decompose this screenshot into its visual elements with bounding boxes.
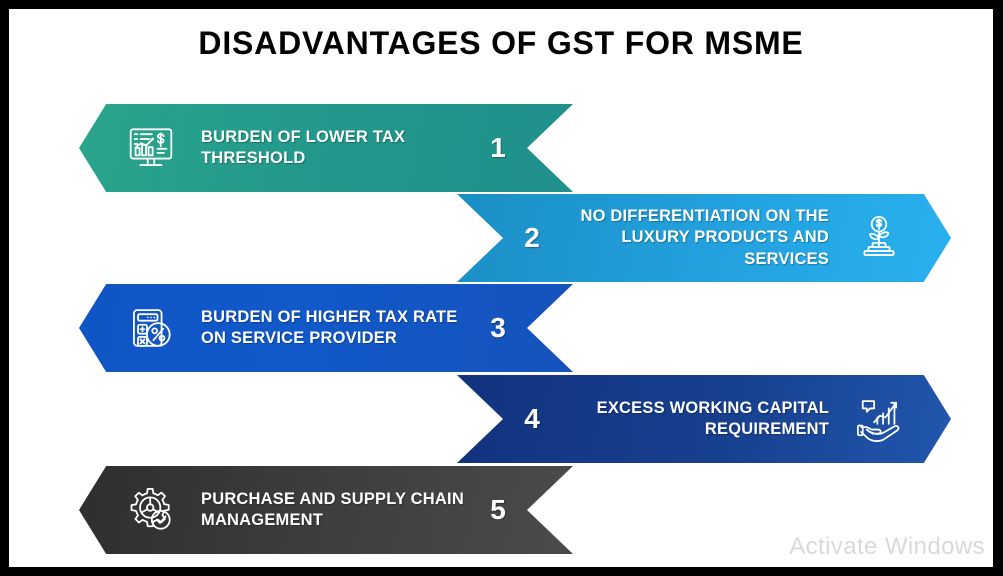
list-item[interactable]: PURCHASE AND SUPPLY CHAIN MANAGEMENT 5 bbox=[79, 466, 573, 554]
list-item[interactable]: 4 EXCESS WORKING CAPITAL REQUIREMENT bbox=[457, 375, 951, 463]
windows-activation-watermark: Activate Windows bbox=[789, 533, 985, 561]
list-item[interactable]: BURDEN OF LOWER TAX THRESHOLD 1 bbox=[79, 104, 573, 192]
list-item[interactable]: BURDEN OF HIGHER TAX RATE ON SERVICE PRO… bbox=[79, 284, 573, 372]
list-item-label: NO DIFFERENTIATION ON THE LUXURY PRODUCT… bbox=[555, 206, 851, 269]
list-item-number: 4 bbox=[509, 403, 555, 435]
list-item-number: 5 bbox=[475, 494, 521, 526]
list-item[interactable]: 2 NO DIFFERENTIATION ON THE LUXURY PRODU… bbox=[457, 194, 951, 282]
list-item-label: BURDEN OF HIGHER TAX RATE ON SERVICE PRO… bbox=[179, 307, 475, 349]
page-title: DISADVANTAGES OF GST FOR MSME bbox=[9, 25, 993, 62]
list-item-label: PURCHASE AND SUPPLY CHAIN MANAGEMENT bbox=[179, 489, 475, 531]
gear-check-icon bbox=[123, 482, 179, 538]
list-item-number: 3 bbox=[475, 312, 521, 344]
list-item-number: 2 bbox=[509, 222, 555, 254]
money-plant-coins-icon bbox=[851, 210, 907, 266]
list-item-label: BURDEN OF LOWER TAX THRESHOLD bbox=[179, 127, 475, 169]
monitor-chart-dollar-icon bbox=[123, 120, 179, 176]
list-item-number: 1 bbox=[475, 132, 521, 164]
hand-growth-chart-icon bbox=[851, 391, 907, 447]
image-frame: DISADVANTAGES OF GST FOR MSME bbox=[0, 0, 1003, 576]
list-item-label: EXCESS WORKING CAPITAL REQUIREMENT bbox=[555, 398, 851, 440]
calculator-percent-icon bbox=[123, 300, 179, 356]
infographic-canvas: DISADVANTAGES OF GST FOR MSME bbox=[9, 9, 993, 567]
